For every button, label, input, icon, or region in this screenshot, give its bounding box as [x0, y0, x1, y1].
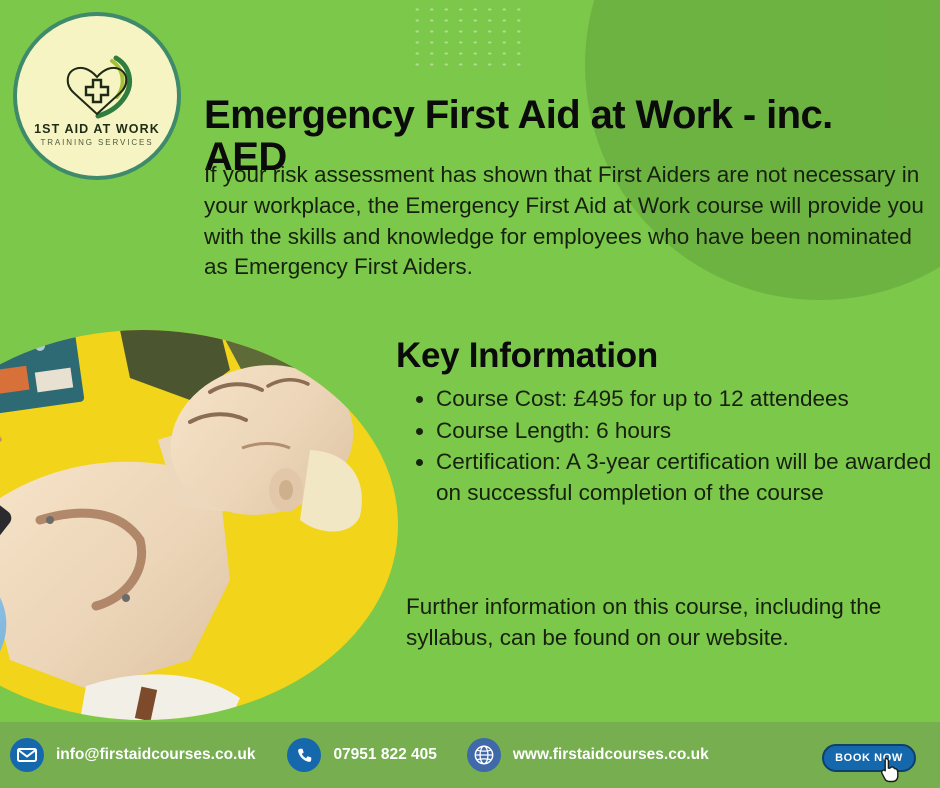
heart-with-medical-cross-icon — [54, 52, 140, 120]
contact-website-label: www.firstaidcourses.co.uk — [513, 746, 709, 764]
list-item: Course Cost: £495 for up to 12 attendees — [436, 384, 940, 415]
cpr-training-photo — [0, 330, 398, 720]
logo-subtitle: TRAINING SERVICES — [40, 138, 153, 147]
book-now-area: BOOK NOW — [822, 744, 916, 772]
contact-email-label: info@firstaidcourses.co.uk — [56, 746, 255, 764]
footer-contact-bar: info@firstaidcourses.co.uk 07951 822 405 — [0, 722, 940, 788]
pointing-hand-cursor-icon — [879, 757, 901, 783]
further-information-text: Further information on this course, incl… — [406, 591, 926, 653]
phone-icon — [287, 738, 321, 772]
contact-phone[interactable]: 07951 822 405 — [287, 738, 436, 772]
key-information-heading: Key Information — [396, 336, 658, 376]
envelope-icon — [10, 738, 44, 772]
book-now-button[interactable]: BOOK NOW — [822, 744, 916, 772]
contact-email[interactable]: info@firstaidcourses.co.uk — [10, 738, 255, 772]
dot-grid-decoration — [410, 4, 530, 66]
globe-icon — [467, 738, 501, 772]
poster-canvas: 1ST AID AT WORK TRAINING SERVICES Emerge… — [0, 0, 940, 788]
logo-company-name: 1ST AID AT WORK — [34, 122, 160, 136]
intro-paragraph: If your risk assessment has shown that F… — [204, 160, 926, 283]
contact-phone-label: 07951 822 405 — [333, 746, 436, 764]
company-logo: 1ST AID AT WORK TRAINING SERVICES — [13, 12, 181, 180]
contact-website[interactable]: www.firstaidcourses.co.uk — [467, 738, 709, 772]
list-item: Course Length: 6 hours — [436, 416, 940, 447]
key-information-list: Course Cost: £495 for up to 12 attendees… — [408, 384, 940, 509]
list-item: Certification: A 3-year certification wi… — [436, 447, 940, 508]
